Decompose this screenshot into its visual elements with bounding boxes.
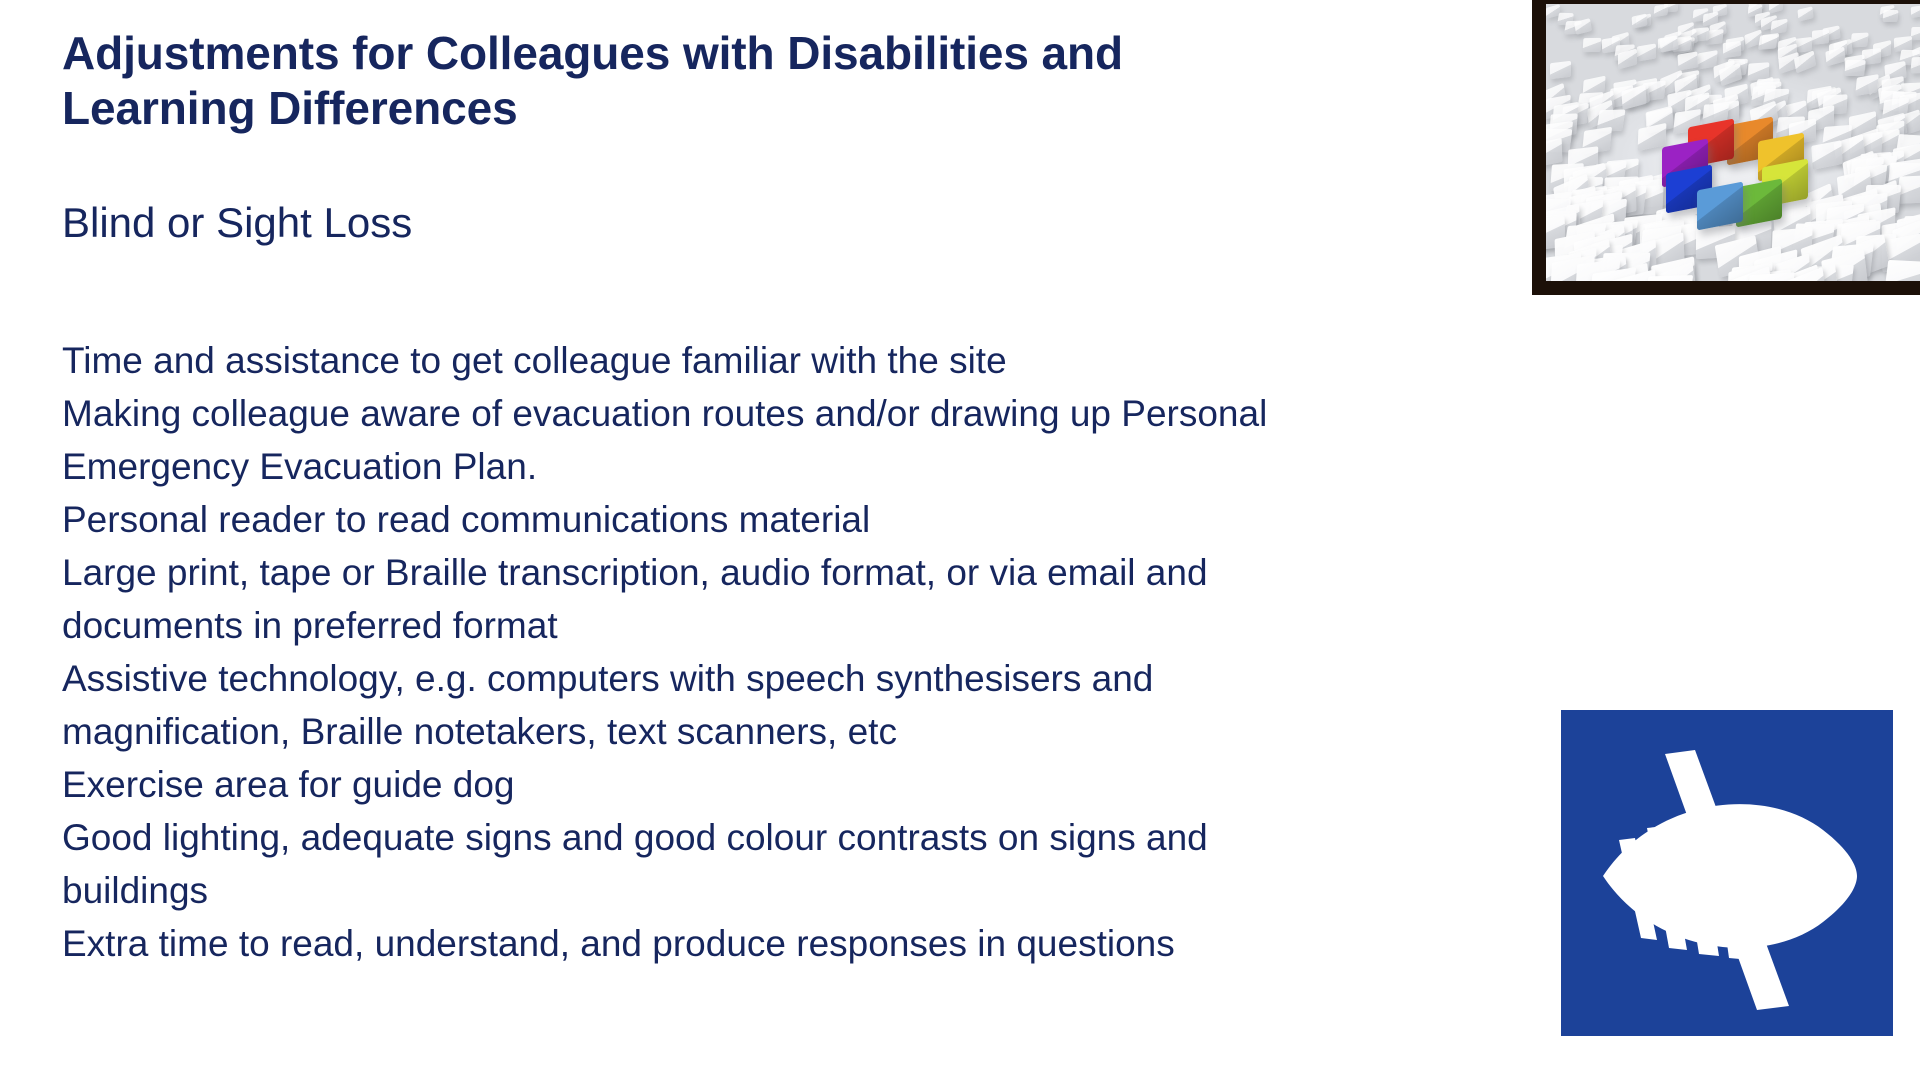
colour-cube (1697, 181, 1743, 230)
colour-cubes-photo-content (1546, 4, 1920, 281)
white-cube (1812, 29, 1829, 44)
white-cube (1910, 57, 1920, 74)
slide-canvas: Adjustments for Colleagues with Disabili… (0, 0, 1920, 1080)
white-cube (1897, 175, 1920, 204)
white-cube (1851, 33, 1870, 48)
body-line: Time and assistance to get colleague fam… (62, 334, 1172, 387)
white-cube (1882, 10, 1898, 22)
white-cube (1644, 275, 1693, 281)
eye-slash-icon (1561, 710, 1893, 1036)
white-cube (1637, 43, 1656, 61)
slide-text-column: Adjustments for Colleagues with Disabili… (62, 26, 1462, 970)
white-cube (1550, 60, 1571, 79)
white-cube (1582, 37, 1601, 52)
body-line: Personal reader to read communications m… (62, 493, 1172, 546)
white-cube (1911, 5, 1920, 18)
white-cube (1723, 41, 1742, 58)
page-title-line-1: Adjustments for Colleagues with Disabili… (62, 27, 1123, 79)
body-line: Making colleague aware of evacuation rou… (62, 387, 1172, 440)
body-line: magnification, Braille notetakers, text … (62, 705, 1172, 758)
body-line: Emergency Evacuation Plan. (62, 440, 1172, 493)
white-cube (1678, 51, 1699, 70)
white-cube (1884, 260, 1920, 281)
body-text-block: Time and assistance to get colleague fam… (62, 249, 1172, 970)
page-title: Adjustments for Colleagues with Disabili… (62, 26, 1182, 136)
page-subtitle: Blind or Sight Loss (62, 136, 1462, 248)
colour-cubes-photo (1532, 0, 1920, 295)
page-title-line-2: Learning Differences (62, 82, 518, 134)
body-line: Good lighting, adequate signs and good c… (62, 811, 1172, 864)
body-line: buildings (62, 864, 1172, 917)
blindness-low-vision-symbol (1561, 710, 1893, 1036)
body-line: Extra time to read, understand, and prod… (62, 917, 1172, 970)
white-cube (1758, 34, 1778, 50)
body-line: Exercise area for guide dog (62, 758, 1172, 811)
body-line: documents in preferred format (62, 599, 1172, 652)
body-line: Large print, tape or Braille transcripti… (62, 546, 1172, 599)
body-line: Assistive technology, e.g. computers wit… (62, 652, 1172, 705)
white-cube (1844, 60, 1866, 77)
white-cube (1771, 19, 1788, 34)
